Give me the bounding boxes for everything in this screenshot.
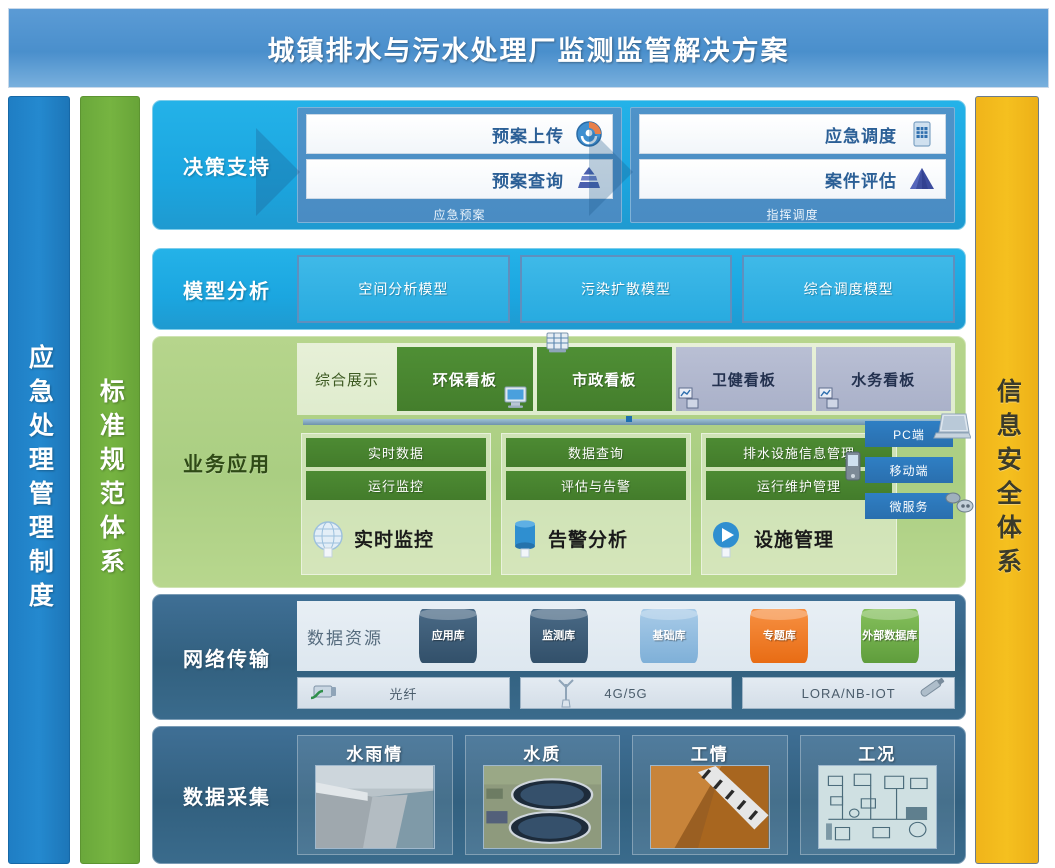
page-title-bar: 城镇排水与污水处理厂监测监管解决方案 [8, 8, 1049, 88]
board-environment[interactable]: 环保看板 [397, 347, 533, 411]
network-link-fiber[interactable]: 光纤 [297, 677, 510, 709]
sedimentation-tank-photo [483, 765, 603, 849]
network-link-cellular[interactable]: 4G/5G [520, 677, 733, 709]
terminal-pc[interactable]: PC端 [865, 421, 953, 447]
business-application-body: 综合展示 环保看板 市政看板 [297, 343, 955, 581]
page-title: 城镇排水与污水处理厂监测监管解决方案 [268, 29, 790, 68]
feature-facility-management-label: 设施管理 [754, 525, 834, 552]
globe-icon [308, 518, 348, 558]
decision-group-emergency-plan: 预案上传 预案查询 [297, 107, 622, 223]
pill-assessment-alarm[interactable]: 评估与告警 [506, 471, 686, 500]
data-collection-body: 水雨情 水质 [297, 735, 955, 855]
decision-card-case-assessment[interactable]: 案件评估 [639, 159, 946, 199]
layer-data-collection: 数据采集 水雨情 水质 [152, 726, 966, 864]
network-transmission-body: 数据资源 应用库 监测库 基础库 专题库 外部数据库 [297, 601, 955, 713]
decision-card-emergency-dispatch-label: 应急调度 [825, 122, 897, 147]
decision-card-plan-query[interactable]: 预案查询 [306, 159, 613, 199]
database-app[interactable]: 应用库 [419, 609, 477, 663]
canal-embankment-photo [315, 765, 435, 849]
pillar-emergency-policy-label: 应急处理管理制度 [25, 344, 54, 616]
model-analysis-body: 空间分析模型 污染扩散模型 综合调度模型 [297, 255, 955, 323]
data-card-project-status[interactable]: 工情 [632, 735, 788, 855]
chart-node-icon-2 [818, 387, 840, 409]
laptop-icon [933, 411, 971, 441]
model-card-integrated-dispatch[interactable]: 综合调度模型 [742, 255, 955, 323]
data-card-rainfall[interactable]: 水雨情 [297, 735, 453, 855]
device-icon [943, 489, 975, 515]
layer-data-collection-label: 数据采集 [153, 727, 301, 863]
board-municipal[interactable]: 市政看板 [537, 347, 673, 411]
network-links: 光纤 4G/5G LORA/NB-IOT [297, 677, 955, 709]
terminal-microservice-label: 微服务 [889, 498, 928, 515]
antenna-icon [555, 678, 577, 708]
pillar-standard-system-label: 标准规范体系 [96, 378, 125, 582]
decision-card-case-assessment-label: 案件评估 [825, 167, 897, 192]
decision-group-command-dispatch: 应急调度 案件评估 [630, 107, 955, 223]
scada-schematic-photo [818, 765, 938, 849]
layer-business-application-label: 业务应用 [153, 337, 301, 587]
business-column-alarm: 数据查询 评估与告警 告警分析 [501, 433, 691, 575]
database-external[interactable]: 外部数据库 [861, 609, 919, 663]
board-health-label: 卫健看板 [712, 369, 776, 390]
board-municipal-label: 市政看板 [572, 369, 636, 390]
terminal-pc-label: PC端 [893, 426, 925, 443]
network-link-lora-label: LORA/NB-IOT [802, 686, 896, 701]
mobile-phone-icon [841, 449, 865, 483]
business-column-monitoring: 实时数据 运行监控 [301, 433, 491, 575]
feature-realtime-monitoring-label: 实时监控 [354, 525, 434, 552]
grid-table-icon [907, 119, 937, 149]
layer-decision-support: 决策支持 预案上传 预案查询 [152, 100, 966, 230]
database-thematic[interactable]: 专题库 [750, 609, 808, 663]
pillar-information-security-label: 信息安全体系 [993, 378, 1022, 582]
business-divider-rail [303, 419, 949, 425]
layer-decision-support-label: 决策支持 [153, 101, 301, 229]
database-basic[interactable]: 基础库 [640, 609, 698, 663]
database-icon [508, 518, 542, 558]
terminal-list: PC端 移动端 [865, 421, 953, 519]
decision-card-plan-query-label: 预案查询 [492, 167, 564, 192]
board-health[interactable]: 卫健看板 [676, 347, 812, 411]
board-environment-label: 环保看板 [433, 369, 497, 390]
pyramid-solid-icon [907, 164, 937, 194]
data-resources-label: 数据资源 [307, 624, 383, 649]
pillar-standard-system: 标准规范体系 [80, 96, 140, 864]
feature-alarm-analysis[interactable]: 告警分析 [506, 504, 686, 570]
terminal-mobile-label: 移动端 [889, 462, 928, 479]
database-monitoring[interactable]: 监测库 [530, 609, 588, 663]
decision-group-emergency-plan-caption: 应急预案 [306, 204, 613, 224]
fiber-cable-icon [308, 680, 338, 704]
comprehensive-display-strip: 综合展示 环保看板 市政看板 [297, 343, 955, 415]
data-card-operating-condition-label: 工况 [804, 739, 952, 765]
data-card-water-quality-label: 水质 [469, 739, 617, 765]
data-card-rainfall-label: 水雨情 [301, 739, 449, 765]
decision-card-plan-upload-label: 预案上传 [492, 122, 564, 147]
board-water-affairs-label: 水务看板 [851, 369, 915, 390]
pill-realtime-data[interactable]: 实时数据 [306, 438, 486, 467]
business-columns: 实时数据 运行监控 [297, 425, 955, 575]
pipeline-trench-photo [650, 765, 770, 849]
pillar-information-security: 信息安全体系 [975, 96, 1039, 864]
feature-alarm-analysis-label: 告警分析 [548, 525, 628, 552]
pill-operation-monitoring[interactable]: 运行监控 [306, 471, 486, 500]
terminal-mobile[interactable]: 移动端 [865, 457, 953, 483]
decision-support-body: 预案上传 预案查询 [297, 107, 955, 223]
rail-marker-dot [626, 416, 632, 422]
network-link-cellular-label: 4G/5G [604, 686, 647, 701]
decision-group-command-dispatch-caption: 指挥调度 [639, 204, 946, 224]
decision-card-emergency-dispatch[interactable]: 应急调度 [639, 114, 946, 154]
pill-data-query[interactable]: 数据查询 [506, 438, 686, 467]
data-card-operating-condition[interactable]: 工况 [800, 735, 956, 855]
monitor-icon [503, 385, 529, 409]
board-water-affairs[interactable]: 水务看板 [816, 347, 952, 411]
model-card-pollution-diffusion[interactable]: 污染扩散模型 [520, 255, 733, 323]
layer-network-transmission-label: 网络传输 [153, 595, 301, 719]
layer-business-application: 业务应用 综合展示 环保看板 市政看板 [152, 336, 966, 588]
data-card-project-status-label: 工情 [636, 739, 784, 765]
sensor-icon [914, 673, 950, 703]
chart-node-icon [678, 387, 700, 409]
terminal-microservice[interactable]: 微服务 [865, 493, 953, 519]
network-link-lora[interactable]: LORA/NB-IOT [742, 677, 955, 709]
model-card-spatial[interactable]: 空间分析模型 [297, 255, 510, 323]
window-icon [545, 331, 571, 355]
decision-card-plan-upload[interactable]: 预案上传 [306, 114, 613, 154]
comprehensive-display-label: 综合展示 [301, 347, 393, 411]
pillar-emergency-policy: 应急处理管理制度 [8, 96, 70, 864]
layer-model-analysis-label: 模型分析 [153, 249, 301, 329]
play-icon [708, 518, 748, 558]
decision-arrow-shadow-2 [589, 128, 633, 216]
layer-model-analysis: 模型分析 空间分析模型 污染扩散模型 综合调度模型 [152, 248, 966, 330]
feature-realtime-monitoring[interactable]: 实时监控 [306, 504, 486, 570]
data-resources-strip: 数据资源 应用库 监测库 基础库 专题库 外部数据库 [297, 601, 955, 671]
data-card-water-quality[interactable]: 水质 [465, 735, 621, 855]
architecture-diagram: 城镇排水与污水处理厂监测监管解决方案 应急处理管理制度 标准规范体系 信息安全体… [0, 0, 1055, 868]
layer-network-transmission: 网络传输 数据资源 应用库 监测库 基础库 专题库 外部数据库 [152, 594, 966, 720]
network-link-fiber-label: 光纤 [389, 684, 417, 703]
